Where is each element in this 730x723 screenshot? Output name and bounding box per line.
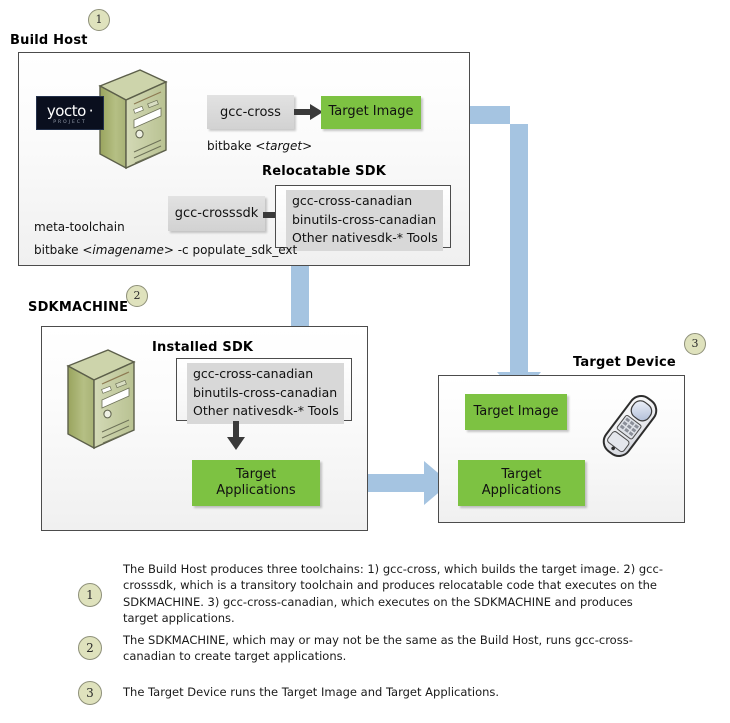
note-badge-3: 3 — [78, 681, 102, 705]
target-device-title: Target Device — [573, 355, 676, 370]
sdkmachine-badge: 2 — [126, 285, 148, 307]
target-image-device-box[interactable]: Target Image — [465, 394, 567, 430]
note-text-3: The Target Device runs the Target Image … — [123, 684, 668, 700]
mobile-phone-icon — [590, 386, 670, 466]
arrow-installed-sdk-to-target-applications — [227, 421, 247, 451]
note-text-2: The SDKMACHINE, which may or may not be … — [123, 632, 668, 665]
bitbake-target-caption: bitbake <target> — [207, 139, 312, 153]
relocatable-sdk-title: Relocatable SDK — [262, 164, 386, 179]
target-applications-device-line1: Target — [501, 467, 541, 483]
note-text-1: The Build Host produces three toolchains… — [123, 561, 668, 626]
relocatable-sdk-item-1: binutils-cross-canadian — [292, 211, 437, 230]
sdkmachine-server-icon — [58, 348, 170, 454]
note-badge-1: 1 — [78, 583, 102, 607]
target-applications-sdkmachine-line2: Applications — [216, 483, 295, 499]
relocatable-sdk-list: gcc-cross-canadian binutils-cross-canadi… — [286, 190, 443, 251]
installed-sdk-item-2: Other nativesdk-* Tools — [193, 402, 338, 421]
build-host-title: Build Host — [10, 33, 88, 48]
yocto-logo-word: yocto — [47, 102, 86, 120]
note-badge-2: 2 — [78, 636, 102, 660]
target-applications-device-box[interactable]: Target Applications — [458, 460, 585, 506]
gcc-crosssdk-box[interactable]: gcc-crosssdk — [168, 196, 265, 231]
installed-sdk-title: Installed SDK — [152, 340, 253, 355]
sdkmachine-title: SDKMACHINE — [28, 300, 128, 315]
relocatable-sdk-item-0: gcc-cross-canadian — [292, 192, 437, 211]
target-applications-sdkmachine-box[interactable]: Target Applications — [192, 460, 320, 506]
yocto-logo-dot: · — [89, 102, 93, 120]
relocatable-sdk-item-2: Other nativesdk-* Tools — [292, 229, 437, 248]
meta-toolchain-label: meta-toolchain — [34, 220, 125, 234]
bitbake-populate-sdk-caption: bitbake <imagename> -c populate_sdk_ext — [34, 243, 297, 257]
target-applications-device-line2: Applications — [482, 483, 561, 499]
build-host-badge: 1 — [88, 9, 110, 31]
gcc-cross-box[interactable]: gcc-cross — [207, 95, 294, 129]
target-applications-sdkmachine-line1: Target — [236, 467, 276, 483]
yocto-project-logo: yocto · PROJECT — [36, 96, 104, 130]
installed-sdk-list: gcc-cross-canadian binutils-cross-canadi… — [187, 363, 344, 424]
target-image-build-host-box[interactable]: Target Image — [321, 96, 421, 129]
installed-sdk-item-0: gcc-cross-canadian — [193, 365, 338, 384]
arrow-gcc-cross-to-target-image — [294, 103, 324, 121]
installed-sdk-item-1: binutils-cross-canadian — [193, 384, 338, 403]
yocto-logo-subtitle: PROJECT — [53, 120, 86, 125]
diagram-canvas: Build Host 1 — [0, 0, 730, 723]
target-device-badge: 3 — [684, 333, 706, 355]
